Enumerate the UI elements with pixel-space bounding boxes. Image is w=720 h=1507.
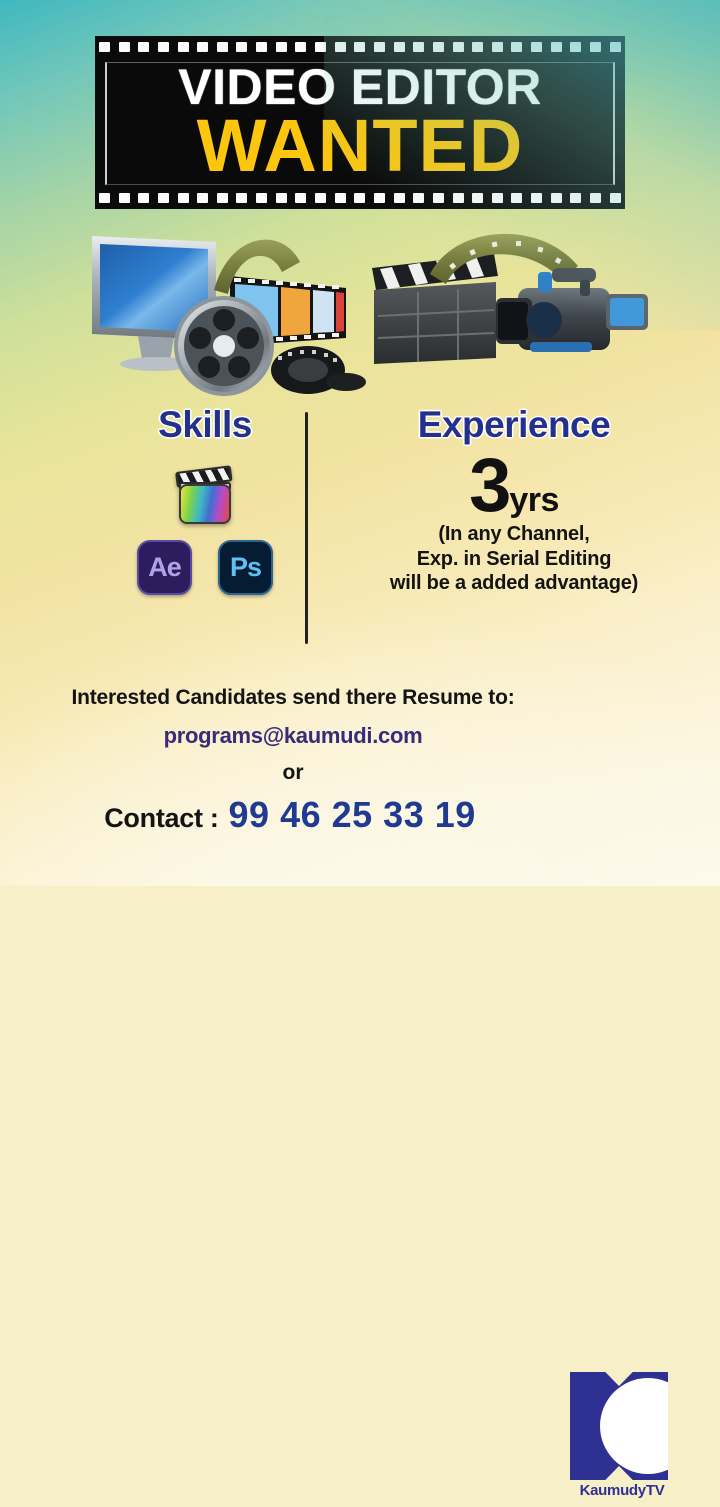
- photoshop-icon: Ps: [218, 540, 273, 595]
- contact-or-text: or: [58, 761, 528, 785]
- banner-text-group: VIDEO EDITOR WANTED: [95, 56, 625, 189]
- contact-email[interactable]: programs@kaumudi.com: [58, 723, 528, 749]
- experience-years-group: 3 yrs: [318, 452, 710, 520]
- column-divider: [305, 412, 308, 644]
- experience-years-number: 3: [469, 452, 509, 520]
- logo-mark-icon: [570, 1372, 668, 1480]
- hero-media-montage: [78, 228, 648, 400]
- logo-brand-text: KaumudyTV: [570, 1482, 674, 1499]
- poster-canvas: VIDEO EDITOR WANTED: [0, 0, 720, 886]
- after-effects-icon: Ae: [137, 540, 192, 595]
- header-film-banner: VIDEO EDITOR WANTED: [95, 36, 625, 209]
- contact-phone-number[interactable]: 99 46 25 33 19: [229, 794, 476, 836]
- kaumudy-tv-logo: KaumudyTV: [570, 1372, 674, 1507]
- video-camera-icon: [496, 268, 648, 352]
- contact-section: Interested Candidates send there Resume …: [0, 672, 720, 886]
- contact-lead-text: Interested Candidates send there Resume …: [58, 686, 528, 710]
- experience-heading: Experience: [318, 404, 710, 446]
- experience-column: Experience 3 yrs (In any Channel, Exp. i…: [318, 404, 710, 596]
- skills-icon-row-primary: [110, 466, 300, 524]
- film-coil-icon: [271, 346, 366, 394]
- contact-phone-label: Contact :: [104, 803, 218, 834]
- experience-note-line-2: Exp. in Serial Editing: [318, 547, 710, 571]
- final-cut-pro-icon: [177, 466, 233, 524]
- poster-title-line2: WANTED: [197, 110, 524, 182]
- experience-years-unit: yrs: [509, 485, 559, 516]
- skills-column: Skills Ae Ps: [110, 404, 300, 595]
- skills-icon-row-secondary: Ae Ps: [110, 540, 300, 595]
- experience-note: (In any Channel, Exp. in Serial Editing …: [318, 522, 710, 595]
- film-sprocket-row-bottom: [95, 187, 625, 209]
- contact-phone-row: Contact : 99 46 25 33 19: [40, 794, 540, 836]
- experience-note-line-1: (In any Channel,: [318, 522, 710, 546]
- film-sprocket-row-top: [95, 36, 625, 58]
- experience-note-line-3: will be a added advantage): [318, 571, 710, 595]
- skills-heading: Skills: [110, 404, 300, 446]
- banner-black-panel: VIDEO EDITOR WANTED: [95, 56, 625, 189]
- skills-experience-section: Skills Ae Ps Experience 3 yrs (In any C: [0, 404, 720, 654]
- film-reel-icon: [176, 298, 272, 394]
